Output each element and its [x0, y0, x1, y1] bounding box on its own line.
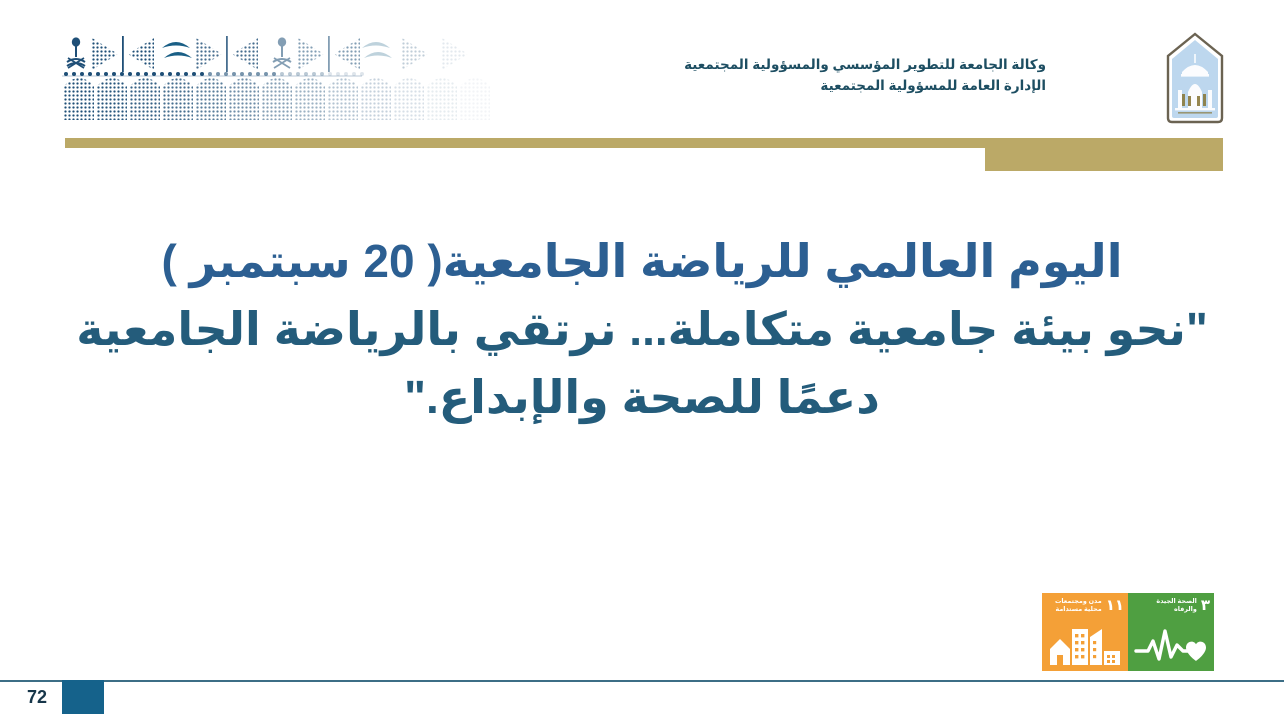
title-line-2: "نحو بيئة جامعية متكاملة... نرتقي بالريا…	[0, 300, 1284, 360]
slide-title-block: اليوم العالمي للرياضة الجامعية( 20 سبتمب…	[0, 232, 1284, 427]
page-number: 72	[20, 687, 54, 707]
page-number-block	[62, 680, 104, 714]
saudi-heritage-pattern-strip	[62, 30, 490, 122]
footer-rule	[0, 680, 1284, 682]
header-gold-block	[985, 138, 1223, 171]
king-saud-university-emblem-icon	[1164, 32, 1226, 124]
sdg-11-number: ١١	[1106, 598, 1124, 613]
sdg-3-label: الصحة الجيدة والرفاه	[1132, 598, 1197, 614]
title-line-1: اليوم العالمي للرياضة الجامعية( 20 سبتمب…	[0, 232, 1284, 292]
sdg-3-number: ٣	[1201, 598, 1210, 613]
sdg-badge-3: ٣ الصحة الجيدة والرفاه	[1128, 593, 1214, 671]
good-health-wellbeing-icon	[1128, 623, 1214, 667]
title-line-3: دعمًا للصحة والإبداع."	[0, 368, 1284, 428]
org-line-2: الإدارة العامة للمسؤولية المجتمعية	[684, 76, 1046, 97]
sdg-badge-group: ١١ مدن ومجتمعات محلية مستدامة	[1042, 593, 1214, 671]
sdg-11-header: ١١ مدن ومجتمعات محلية مستدامة	[1046, 598, 1124, 614]
sustainable-cities-icon	[1042, 623, 1128, 667]
org-line-1: وكالة الجامعة للتطوير المؤسسي والمسؤولية…	[684, 55, 1046, 76]
sdg-3-header: ٣ الصحة الجيدة والرفاه	[1132, 598, 1210, 614]
slide-header: وكالة الجامعة للتطوير المؤسسي والمسؤولية…	[0, 0, 1284, 175]
sdg-badge-11: ١١ مدن ومجتمعات محلية مستدامة	[1042, 593, 1128, 671]
sdg-11-label: مدن ومجتمعات محلية مستدامة	[1046, 598, 1102, 614]
organization-title-block: وكالة الجامعة للتطوير المؤسسي والمسؤولية…	[684, 55, 1046, 97]
